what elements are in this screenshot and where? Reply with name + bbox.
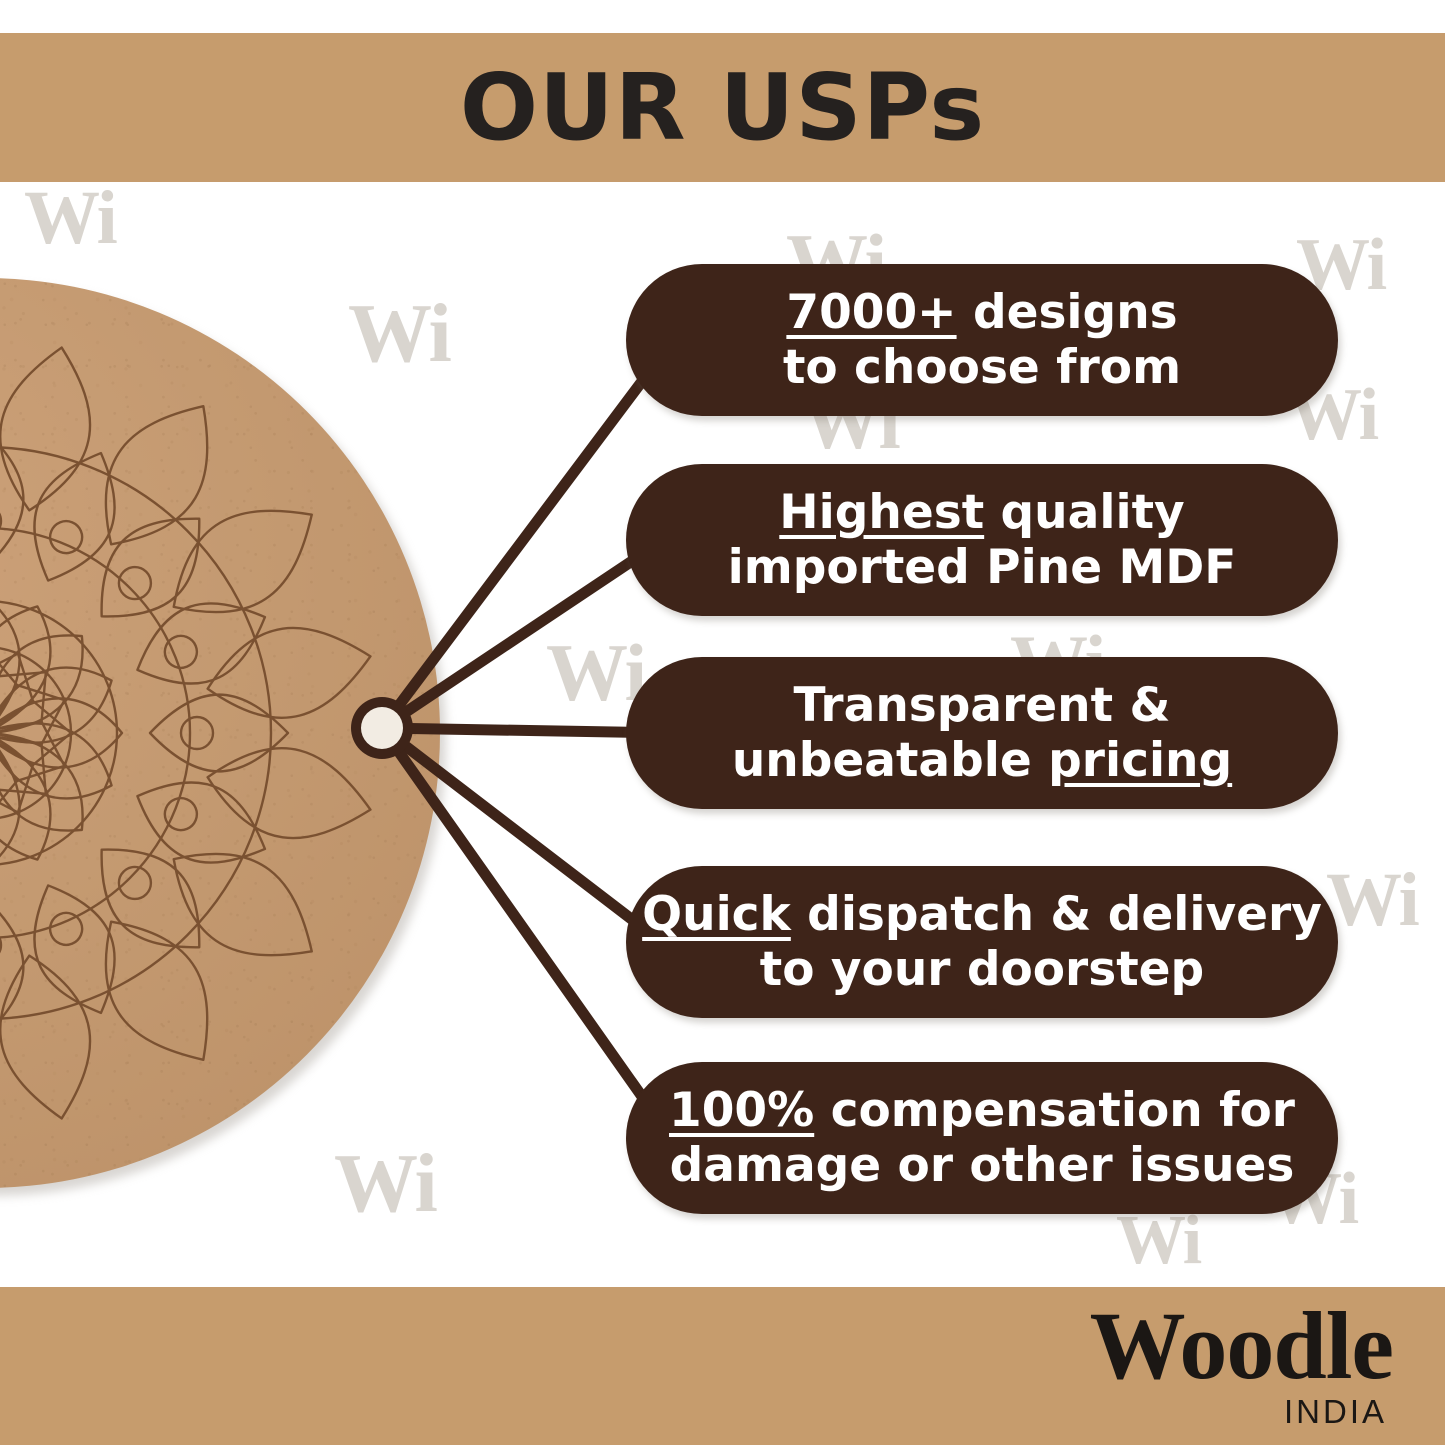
usp-highlight: 100% — [669, 1083, 814, 1138]
watermark-wi: Wi — [546, 632, 645, 714]
usp-highlight: pricing — [1048, 733, 1232, 788]
usp-line-2: imported Pine MDF — [728, 540, 1237, 595]
mandala-engraving — [0, 278, 440, 1188]
board-surface — [0, 278, 440, 1188]
watermark-wi: Wi — [1116, 1206, 1200, 1276]
usp-pill-designs[interactable]: 7000+ designs to choose from — [626, 264, 1338, 416]
usp-line-1-rest: quality — [984, 485, 1185, 540]
usp-line-1-rest: dispatch & delivery — [791, 887, 1322, 942]
usp-line-2: damage or other issues — [670, 1138, 1295, 1193]
usp-pill-quality[interactable]: Highest quality imported Pine MDF — [626, 464, 1338, 616]
usp-line-2: unbeatable pricing — [732, 733, 1232, 788]
usp-line-1: 7000+ designs — [786, 285, 1177, 340]
usp-line-2-rest: unbeatable — [732, 733, 1048, 788]
page-title: OUR USPs — [0, 33, 1445, 182]
usp-line-1-rest: designs — [957, 285, 1178, 340]
usp-line-1: Transparent & — [794, 678, 1171, 733]
usp-pill-pricing[interactable]: Transparent & unbeatable pricing — [626, 657, 1338, 809]
infographic-canvas: Wi Wi Wi Wi Wi Wi Wi Wi Wi Wi Wi Wi — [0, 0, 1445, 1445]
usp-pill-compensation[interactable]: 100% compensation for damage or other is… — [626, 1062, 1338, 1214]
brand-name: Woodle — [1090, 1300, 1393, 1391]
usp-highlight: Highest — [779, 485, 984, 540]
usp-line-1: Highest quality — [779, 485, 1184, 540]
watermark-wi: Wi — [1326, 862, 1418, 938]
usp-line-1: 100% compensation for — [669, 1083, 1295, 1138]
usp-line-1: Quick dispatch & delivery — [642, 887, 1322, 942]
usp-line-1-rest: compensation for — [814, 1083, 1295, 1138]
watermark-wi: Wi — [24, 180, 116, 256]
usp-pill-dispatch[interactable]: Quick dispatch & delivery to your doorst… — [626, 866, 1338, 1018]
mandala-board — [0, 278, 440, 1188]
usp-line-2: to choose from — [783, 340, 1181, 395]
usp-line-2: to your doorstep — [760, 942, 1204, 997]
brand-logo: Woodle INDIA — [1090, 1300, 1393, 1431]
usp-highlight: Quick — [642, 887, 791, 942]
usp-highlight: 7000+ — [786, 285, 956, 340]
